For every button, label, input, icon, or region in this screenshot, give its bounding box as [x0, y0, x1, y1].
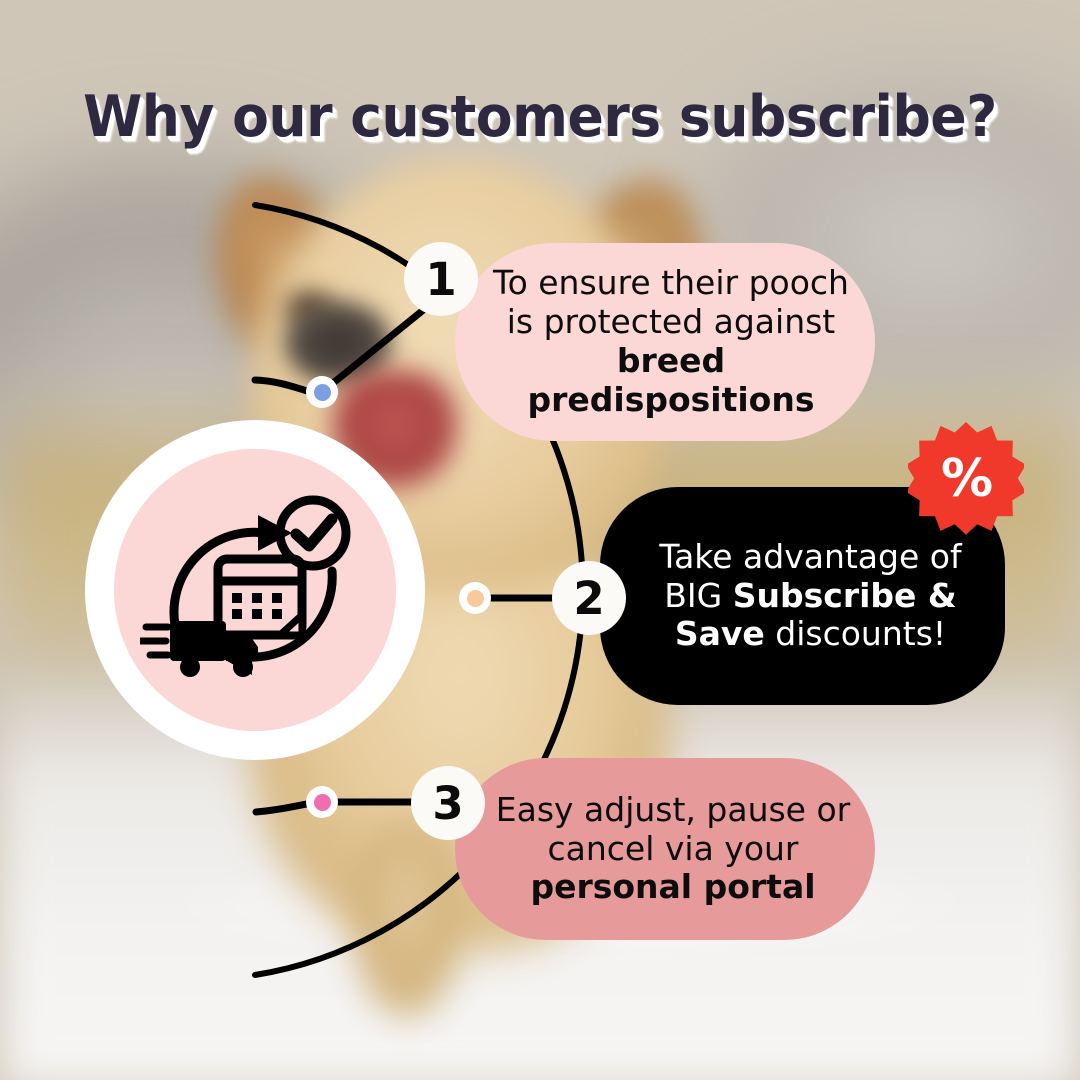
connector-dot-2-core — [467, 590, 484, 607]
icon-badge-inner-disc — [114, 449, 396, 731]
check-mark-icon — [296, 519, 332, 546]
connector-dot-1-core — [314, 384, 331, 401]
step-number-1[interactable]: 1 — [404, 242, 478, 316]
percent-starburst-badge[interactable]: % — [908, 422, 1024, 538]
percent-symbol: % — [909, 421, 1025, 537]
delivery-truck-icon — [140, 621, 258, 677]
benefit-text-1: To ensure their pooch is protected again… — [455, 264, 875, 420]
connector-dot-3[interactable] — [306, 786, 338, 818]
step-number-2[interactable]: 2 — [552, 561, 626, 635]
infographic-canvas: Why our customers subscribe? — [0, 0, 1080, 1080]
step-number-3[interactable]: 3 — [411, 766, 485, 840]
subscription-icon-art — [140, 475, 370, 705]
tail-line-1 — [255, 380, 311, 392]
connector-dot-3-core — [314, 794, 331, 811]
benefit-text-3: Easy adjust, pause or cancel via your pe… — [455, 791, 875, 908]
benefit-bubble-1[interactable]: To ensure their pooch is protected again… — [455, 243, 875, 441]
benefit-text-2: Take advantage of BIG Subscribe & Save d… — [600, 538, 1005, 655]
subscription-delivery-icon-badge — [85, 420, 425, 760]
calendar-icon — [218, 559, 302, 635]
connector-dot-1[interactable] — [306, 376, 338, 408]
benefit-bubble-3[interactable]: Easy adjust, pause or cancel via your pe… — [455, 758, 875, 940]
calendar-page-curl — [280, 615, 302, 635]
connector-dot-2[interactable] — [459, 582, 491, 614]
